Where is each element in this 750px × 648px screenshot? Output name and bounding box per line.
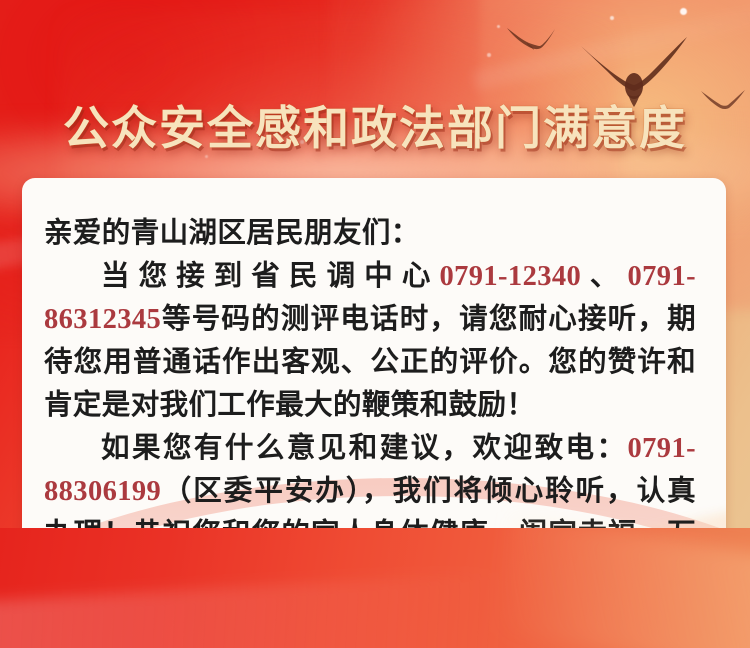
bird-small-left-icon — [505, 24, 557, 52]
sparkle-icon — [610, 16, 614, 20]
text-run: 、 — [581, 261, 627, 292]
bottom-sheen-right — [493, 514, 750, 648]
page-title: 公众安全感和政法部门满意度 — [0, 92, 750, 158]
sparkle-icon — [487, 53, 491, 57]
bottom-red-band — [0, 528, 750, 648]
paragraph-salutation: 亲爱的青山湖区居民朋友们： — [44, 212, 696, 255]
telephone-number[interactable]: 0791-12340 — [439, 261, 581, 292]
sparkle-icon — [497, 25, 500, 28]
text-run: 当您接到省民调中心 — [101, 261, 439, 292]
bottom-sheen-left — [0, 572, 502, 648]
poster: 公众安全感和政法部门满意度 亲爱的青山湖区居民朋友们：当您接到省民调中心0791… — [0, 0, 750, 648]
text-run: 亲爱的青山湖区居民朋友们： — [44, 218, 420, 249]
sparkle-icon — [680, 8, 687, 15]
paragraph-survey-notice: 当您接到省民调中心0791-12340、0791-86312345等号码的测评电… — [44, 255, 696, 427]
text-run: 如果您有什么意见和建议，欢迎致电： — [101, 433, 628, 464]
